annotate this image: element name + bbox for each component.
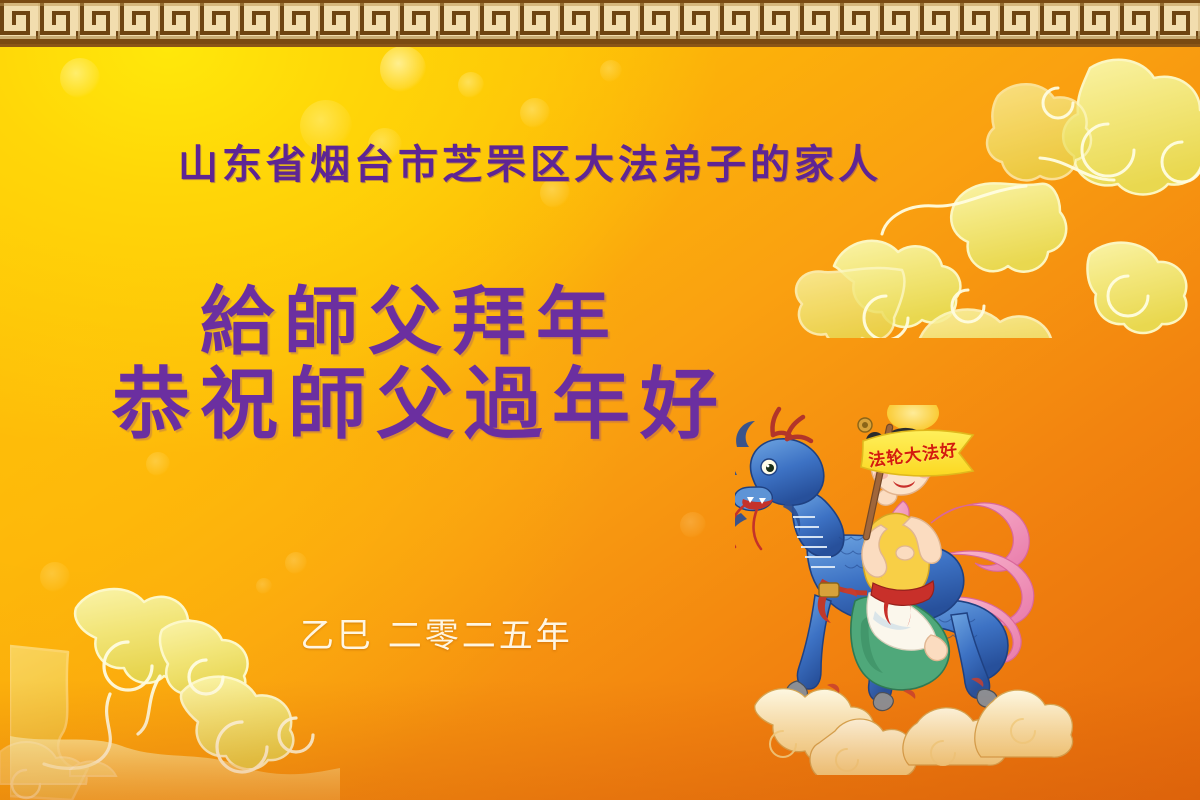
page-title: 山东省烟台市芝罘区大法弟子的家人 bbox=[0, 132, 1060, 190]
bokeh-light bbox=[256, 578, 272, 594]
bokeh-light bbox=[60, 58, 100, 98]
dragon-front-leg bbox=[797, 595, 831, 689]
bokeh-light bbox=[1140, 300, 1166, 326]
bokeh-light bbox=[680, 512, 706, 538]
bokeh-light bbox=[380, 46, 426, 92]
greek-key-border bbox=[0, 0, 1200, 47]
bokeh-light bbox=[520, 98, 550, 128]
cloud-base bbox=[755, 689, 1073, 775]
bokeh-light bbox=[600, 60, 622, 82]
cloud-decoration-bottom-left-small bbox=[0, 724, 150, 800]
cloud-decoration-bottom-left bbox=[10, 568, 340, 800]
bokeh-light bbox=[40, 562, 70, 592]
greeting-line-2: 恭祝師父過年好 bbox=[112, 342, 728, 454]
bokeh-light bbox=[146, 452, 170, 476]
new-year-greeting-card: 法轮大法好 山东省烟台市芝罘区大法弟子的家人 給師父拜年 恭祝師父過年好 乙巳 … bbox=[0, 0, 1200, 800]
bokeh-light bbox=[458, 72, 484, 98]
sun-glow bbox=[887, 405, 939, 431]
date-label: 乙巳 二零二五年 bbox=[300, 608, 573, 657]
bokeh-light bbox=[285, 552, 307, 574]
